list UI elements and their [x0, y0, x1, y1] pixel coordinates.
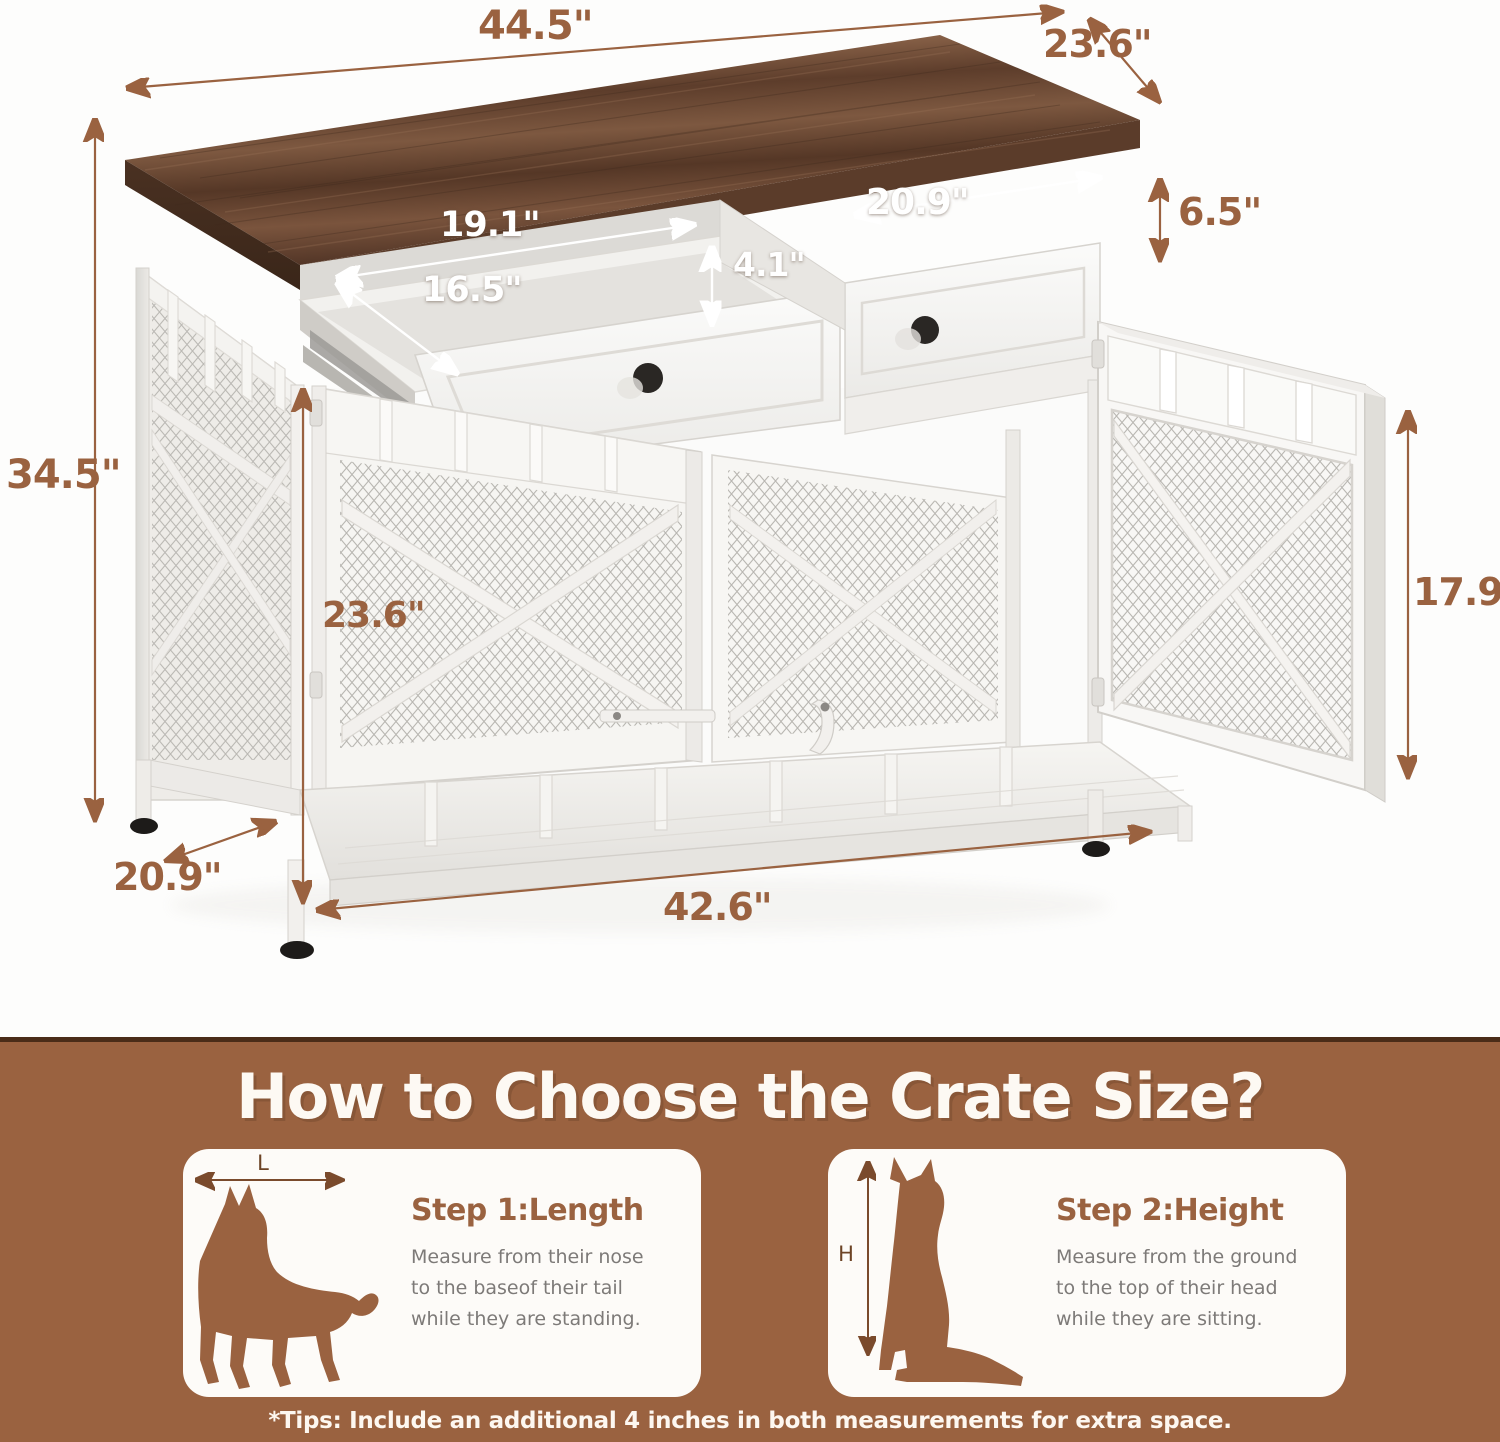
step-1-illustration: L [183, 1149, 398, 1397]
product-diagram-section: 44.5" 23.6" 20.9" 6.5" 19.1" 16.5" 4.1" … [0, 0, 1500, 1037]
dim-drawer-height: 6.5" [1178, 190, 1261, 234]
product-illustration [0, 0, 1500, 1037]
step-2-desc-line-2: to the top of their head [1056, 1273, 1336, 1304]
crate-door-right-open [1092, 322, 1385, 802]
crate-size-guide-banner: How to Choose the Crate Size? L [0, 1037, 1500, 1442]
step-1-card: L Step 1:Length Measure from their nose … [183, 1149, 701, 1397]
product-render: 44.5" 23.6" 20.9" 6.5" 19.1" 16.5" 4.1" … [0, 0, 1500, 1037]
right-back-mesh-panel [712, 455, 1012, 762]
dim-drawer-depth: 16.5" [422, 270, 522, 310]
dim-top-width: 44.5" [478, 3, 593, 49]
crate-door-left [310, 386, 702, 792]
dim-base-depth: 20.9" [113, 855, 222, 899]
step-2-heading: Step 2:Height [1056, 1193, 1336, 1228]
dim-drawer-width-right: 20.9" [866, 182, 969, 223]
step-1-text: Step 1:Length Measure from their nose to… [411, 1193, 691, 1334]
dim-drawer-width-left: 19.1" [440, 205, 540, 245]
step-1-desc-line-2: to the baseof their tail [411, 1273, 691, 1304]
step-1-heading: Step 1:Length [411, 1193, 691, 1228]
step-1-desc-line-3: while they are standing. [411, 1304, 691, 1335]
dim-door-height: 17.9" [1413, 570, 1500, 614]
dim-overall-height: 34.5" [6, 452, 121, 498]
dim-crate-inner-height: 23.6" [322, 595, 425, 636]
step-2-illustration: H [828, 1149, 1043, 1397]
dog-body [198, 1184, 378, 1389]
height-marker-label: H [838, 1242, 854, 1266]
step-2-card: H Step 2:Height Measure from the ground … [828, 1149, 1346, 1397]
step-1-desc-line-1: Measure from their nose [411, 1242, 691, 1273]
left-side-panel [136, 268, 304, 815]
tips-note: *Tips: Include an additional 4 inches in… [0, 1408, 1500, 1434]
dim-base-width: 42.6" [663, 885, 772, 929]
step-2-text: Step 2:Height Measure from the ground to… [1056, 1193, 1336, 1334]
dog-standing-icon: L [183, 1149, 398, 1397]
step-2-desc-line-1: Measure from the ground [1056, 1242, 1336, 1273]
step-2-desc-line-3: while they are sitting. [1056, 1304, 1336, 1335]
length-marker-label: L [257, 1151, 269, 1175]
dim-drawer-inner-height: 4.1" [733, 245, 805, 284]
dog-sitting-icon: H [828, 1149, 1043, 1397]
banner-title: How to Choose the Crate Size? [0, 1060, 1500, 1133]
dim-top-depth: 23.6" [1043, 22, 1152, 66]
dog-body [879, 1157, 1023, 1386]
